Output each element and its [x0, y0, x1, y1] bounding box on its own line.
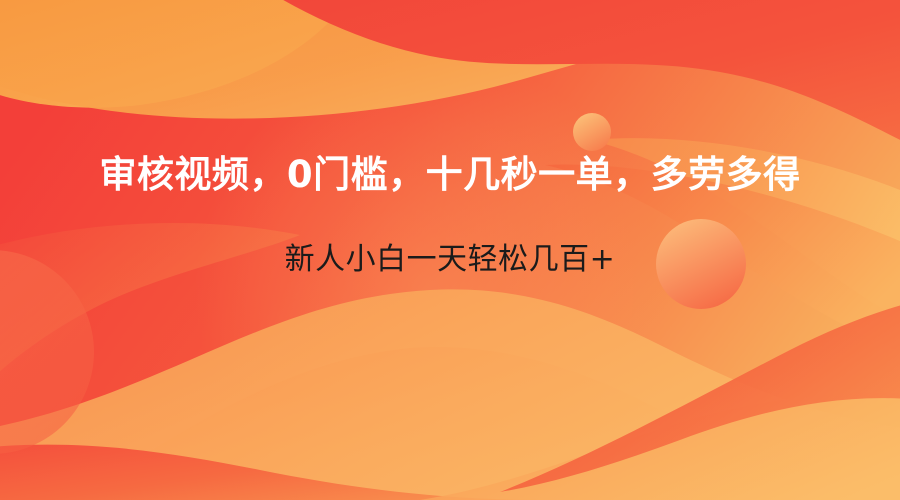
- promo-banner: 审核视频，0门槛，十几秒一单，多劳多得 新人小白一天轻松几百+: [0, 0, 900, 500]
- banner-text-layer: 审核视频，0门槛，十几秒一单，多劳多得 新人小白一天轻松几百+: [0, 0, 900, 500]
- banner-subline: 新人小白一天轻松几百+: [0, 243, 900, 278]
- banner-headline: 审核视频，0门槛，十几秒一单，多劳多得: [0, 154, 900, 197]
